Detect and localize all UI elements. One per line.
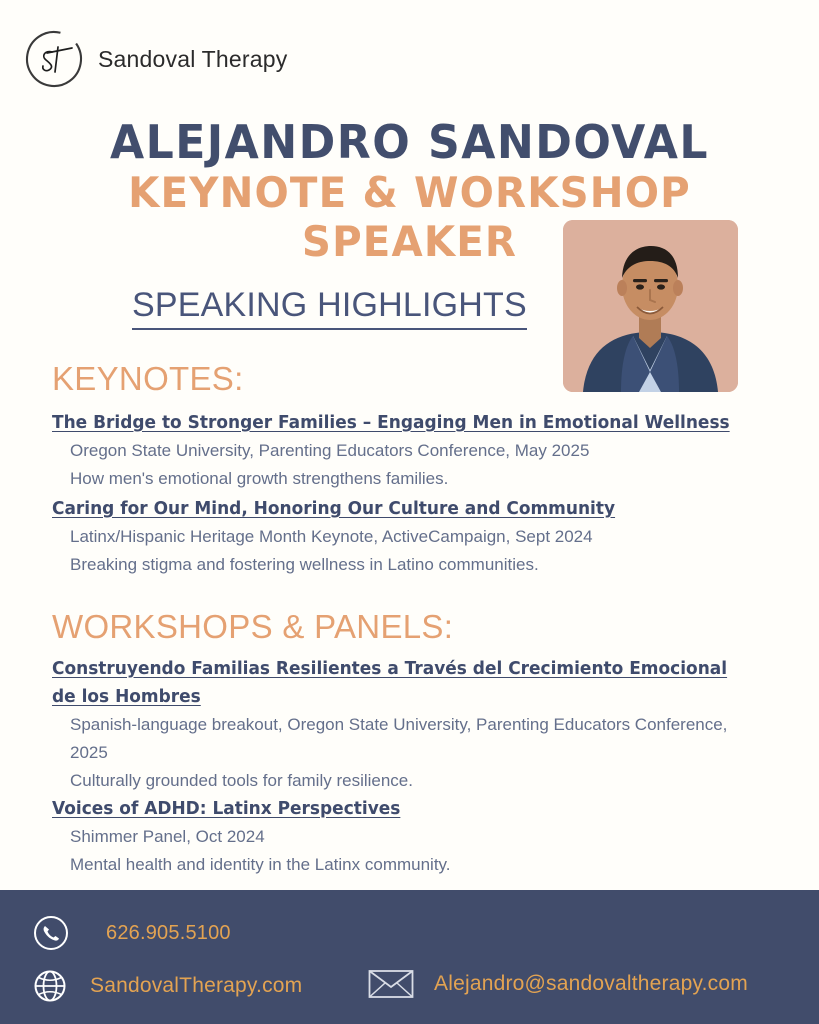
- keynote-item-venue: Oregon State University, Parenting Educa…: [70, 437, 589, 465]
- footer-email[interactable]: Alejandro@sandovaltherapy.com: [368, 968, 748, 1000]
- brand-logo: Sandoval Therapy: [22, 26, 287, 92]
- page-title: ALEJANDRO SANDOVAL: [16, 115, 802, 169]
- circle-monogram-icon: [22, 26, 88, 92]
- workshop-item-description: Mental health and identity in the Latinx…: [70, 851, 451, 879]
- footer-website-text: SandovalTherapy.com: [90, 974, 302, 998]
- workshop-item-venue: Spanish-language breakout, Oregon State …: [70, 711, 750, 767]
- envelope-icon: [368, 968, 414, 1000]
- keynote-item-title: The Bridge to Stronger Families – Engagi…: [52, 409, 730, 437]
- brand-name: Sandoval Therapy: [98, 46, 287, 73]
- footer-email-text: Alejandro@sandovaltherapy.com: [434, 972, 748, 996]
- speaker-headshot: [563, 220, 738, 392]
- keynote-item-title: Caring for Our Mind, Honoring Our Cultur…: [52, 495, 615, 523]
- workshops-heading: WORKSHOPS & PANELS:: [52, 608, 453, 646]
- workshop-item-title: Construyendo Familias Resilientes a Trav…: [52, 655, 746, 711]
- keynote-item-description: How men's emotional growth strengthens f…: [70, 465, 448, 493]
- contact-footer: 626.905.5100 SandovalTherapy.com Alejand…: [0, 890, 819, 1024]
- globe-icon: [32, 968, 68, 1004]
- keynotes-heading: KEYNOTES:: [52, 360, 244, 398]
- keynote-item-description: Breaking stigma and fostering wellness i…: [70, 551, 539, 579]
- footer-phone-text: 626.905.5100: [106, 922, 231, 945]
- footer-phone[interactable]: 626.905.5100: [32, 914, 231, 952]
- footer-website[interactable]: SandovalTherapy.com: [32, 968, 302, 1004]
- keynote-item-venue: Latinx/Hispanic Heritage Month Keynote, …: [70, 523, 593, 551]
- workshop-item-venue: Shimmer Panel, Oct 2024: [70, 823, 265, 851]
- workshop-item-title: Voices of ADHD: Latinx Perspectives: [52, 795, 400, 823]
- workshop-item-description: Culturally grounded tools for family res…: [70, 767, 413, 795]
- speaking-highlights-heading: SPEAKING HIGHLIGHTS: [132, 286, 527, 330]
- phone-icon: [32, 914, 70, 952]
